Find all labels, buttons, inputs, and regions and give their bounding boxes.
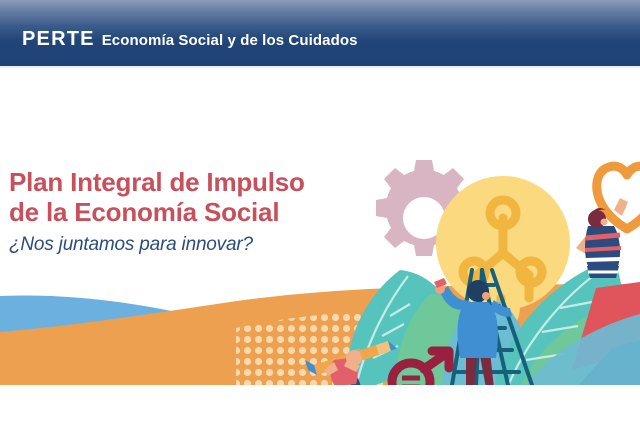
brand-lockup: PERTEEconomía Social y de los Cuidados	[22, 28, 358, 51]
promo-banner: PERTEEconomía Social y de los Cuidados	[0, 0, 640, 426]
hero-title-line-1: Plan Integral de Impulso	[9, 167, 359, 197]
brand-name: PERTE	[22, 28, 95, 50]
hero-tagline: ¿Nos juntamos para innovar?	[9, 234, 359, 256]
brand-subtitle: Economía Social y de los Cuidados	[102, 32, 358, 49]
header-divider	[0, 66, 640, 68]
site-header: PERTEEconomía Social y de los Cuidados	[0, 0, 640, 66]
hero-title-line-2: de la Economía Social	[9, 197, 359, 227]
hero-text-block: Plan Integral de Impulso de la Economía …	[9, 167, 359, 256]
person-with-heart	[576, 166, 640, 278]
